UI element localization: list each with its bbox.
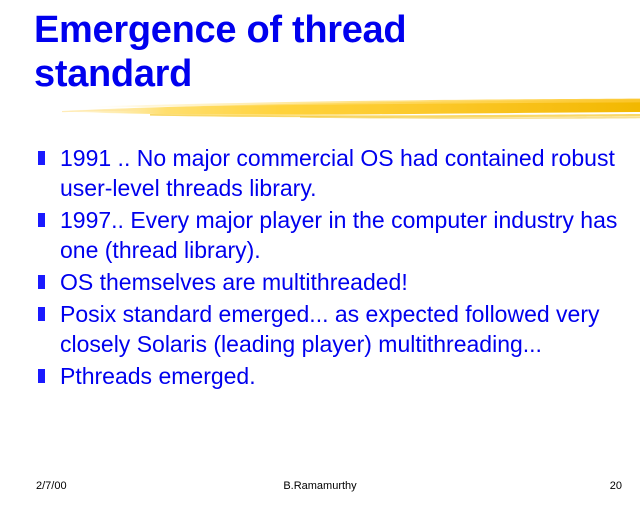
list-item-text: Pthreads emerged. [60, 361, 630, 391]
list-item: 1991 .. No major commercial OS had conta… [34, 143, 630, 203]
square-bullet-icon [38, 213, 45, 227]
list-item-text: 1997.. Every major player in the compute… [60, 205, 630, 265]
square-bullet-icon [38, 307, 45, 321]
list-item: Pthreads emerged. [34, 361, 630, 391]
square-bullet-icon [38, 151, 45, 165]
page-title-line-1: Emergence of thread [34, 8, 594, 52]
bullet-list: 1991 .. No major commercial OS had conta… [34, 143, 630, 393]
list-item-text: Posix standard emerged... as expected fo… [60, 299, 630, 359]
list-item-text: OS themselves are multithreaded! [60, 267, 630, 297]
list-item: 1997.. Every major player in the compute… [34, 205, 630, 265]
slide-canvas: Emergence of thread standard [0, 0, 640, 512]
square-bullet-icon [38, 275, 45, 289]
brush-stroke-icon [0, 93, 640, 121]
square-bullet-icon [38, 369, 45, 383]
list-item: Posix standard emerged... as expected fo… [34, 299, 630, 359]
footer-page-number: 20 [610, 478, 622, 494]
slide-footer: 2/7/00 B.Ramamurthy 20 [0, 478, 640, 498]
brush-stroke-divider [0, 93, 640, 121]
page-title-line-2: standard [34, 52, 594, 96]
page-title: Emergence of thread standard [34, 8, 594, 96]
list-item: OS themselves are multithreaded! [34, 267, 630, 297]
footer-author: B.Ramamurthy [0, 478, 640, 494]
list-item-text: 1991 .. No major commercial OS had conta… [60, 143, 630, 203]
